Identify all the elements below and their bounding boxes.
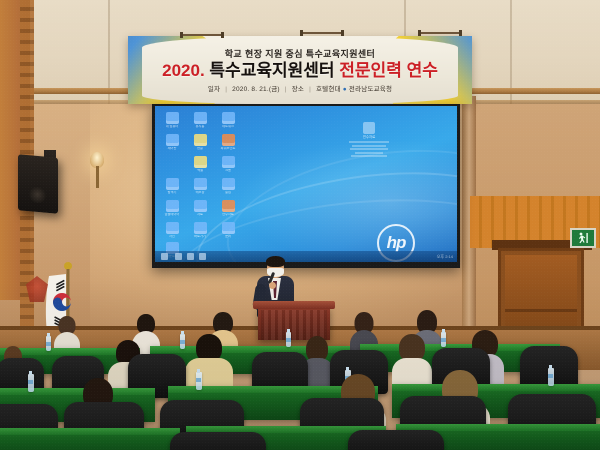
desktop-icon-label: 엑셀 <box>189 169 211 173</box>
desktop-icon-label: 파워포인트 <box>217 147 239 151</box>
banner-detail-line: 일자 | 2020. 8. 21.(금) | 장소 | 호텔현대 ● 전라남도교… <box>208 83 392 93</box>
desktop-icon-label: 메모장 <box>189 191 211 195</box>
desktop-icon-glyph <box>166 112 179 124</box>
conference-photo-scene: 학교 현장 지원 중심 특수교육지원센터 2020. 특수교육지원센터 전문인력… <box>0 0 600 450</box>
taskbar-app-icon[interactable] <box>187 253 194 260</box>
desktop-icon-glyph <box>166 200 179 212</box>
desktop-icon-glyph <box>194 156 207 168</box>
desktop-icon-glyph <box>222 200 235 212</box>
desktop-icon-label: 네트워크 <box>217 125 239 129</box>
desktop-icon-glyph <box>166 178 179 190</box>
banner-program-name: 전문인력 연수 <box>339 61 438 80</box>
desktop-icon-label: 한글 <box>189 147 211 151</box>
desktop-icon[interactable]: 바로가기 <box>189 222 211 239</box>
desktop-icon-label: 바로가기 <box>189 235 211 239</box>
desktop-icon[interactable]: 탐색기 <box>161 178 183 195</box>
projection-screen-frame: 내 컴퓨터 휴지통 네트워크 제어판 한글 파워포인트 엑셀 크롬 탐색기 메모… <box>152 104 460 268</box>
banner-subtitle-top: 학교 현장 지원 중심 특수교육지원센터 <box>225 47 375 60</box>
desktop-icon-glyph <box>222 112 235 124</box>
desktop-icon[interactable]: 엑셀 <box>189 156 211 173</box>
desktop-icon-label: 사진 <box>161 235 183 239</box>
wall-seam <box>510 0 512 112</box>
desktop-icon[interactable]: 휴지통 <box>189 112 211 129</box>
desktop-icon[interactable]: 네트워크 <box>217 112 239 129</box>
desktop-icon[interactable]: 곰플레이어 <box>161 200 183 217</box>
presenter-hand <box>269 282 276 289</box>
desktop-icon[interactable]: 연수자료 <box>217 200 239 217</box>
desktop-icon-glyph <box>166 222 179 234</box>
banner-org: 전라남도교육청 <box>349 86 392 93</box>
desktop-icon[interactable]: 크롬 <box>217 156 239 173</box>
water-bottle <box>196 372 202 390</box>
emergency-exit-icon <box>570 228 596 248</box>
taskbar-clock[interactable]: 오후 2:14 <box>437 254 453 260</box>
chair <box>348 430 444 450</box>
desktop-icon-glyph <box>194 222 207 234</box>
desktop-icon[interactable]: 제어판 <box>161 134 183 151</box>
taskbar-app-icon[interactable] <box>199 253 206 260</box>
sep-icon: | <box>309 86 311 93</box>
wallpaper-swoosh <box>216 129 457 262</box>
sep-icon: | <box>285 86 287 93</box>
chair <box>170 432 266 450</box>
desktop-icon-label: 탐색기 <box>161 191 183 195</box>
desktop-icon-glyph <box>194 200 207 212</box>
note-label: 연수자료 <box>341 134 397 139</box>
projection-screen: 내 컴퓨터 휴지통 네트워크 제어판 한글 파워포인트 엑셀 크롬 탐색기 메모… <box>155 106 457 262</box>
desktop-icon-glyph <box>194 134 207 146</box>
desktop-icon-glyph <box>222 134 235 146</box>
attendee <box>392 334 432 386</box>
presenter-hair <box>266 256 285 267</box>
desktop-icon-label: 곰플레이어 <box>161 213 183 217</box>
water-bottle <box>286 332 291 347</box>
sconce-stem <box>96 166 99 188</box>
desktop-icon-label: 휴지통 <box>189 125 211 129</box>
desktop-icon-glyph <box>166 134 179 146</box>
desktop-icon-label: 자료 <box>189 213 211 217</box>
desktop-icon[interactable]: 자료 <box>189 200 211 217</box>
desktop-icon-label: 제어판 <box>161 147 183 151</box>
desktop-icon-label: 크롬 <box>217 169 239 173</box>
banner-hook-left <box>180 32 224 38</box>
desktop-icon-glyph <box>194 178 207 190</box>
desktop-icon-glyph <box>222 156 235 168</box>
taskbar-app-icon[interactable] <box>175 253 182 260</box>
desktop-icon-glyph <box>222 222 235 234</box>
desktop-icon-label: 내 컴퓨터 <box>161 125 183 129</box>
org-logo-icon: ● <box>343 86 347 93</box>
desktop-icon-glyph <box>194 112 207 124</box>
water-bottle <box>548 368 554 386</box>
desktop-icon[interactable]: 문서 <box>217 222 239 239</box>
audience-area <box>0 300 600 450</box>
banner-year: 2020. <box>162 61 205 80</box>
desktop-icon-label: 알집 <box>217 191 239 195</box>
desktop-text-note[interactable]: 연수자료 <box>341 122 397 159</box>
taskbar-start-icon[interactable] <box>161 253 168 260</box>
desktop-icon[interactable]: 사진 <box>161 222 183 239</box>
banner-hook-mid <box>300 30 344 36</box>
water-bottle <box>46 336 51 351</box>
banner-center-name: 특수교육지원센터 <box>209 61 334 80</box>
note-lines <box>341 141 397 157</box>
desktop-icon[interactable]: 파워포인트 <box>217 134 239 151</box>
banner-main-title: 2020. 특수교육지원센터 전문인력 연수 <box>162 62 438 80</box>
note-icon <box>363 122 375 134</box>
windows-taskbar[interactable]: 오후 2:14 <box>155 251 457 262</box>
banner-hook-right <box>418 30 462 36</box>
desktop-icon[interactable]: 메모장 <box>189 178 211 195</box>
desktop-icon-label: 연수자료 <box>217 213 239 217</box>
desktop-icon[interactable]: 내 컴퓨터 <box>161 112 183 129</box>
wall-seam <box>108 0 110 112</box>
water-bottle <box>441 332 446 347</box>
conference-table <box>0 428 180 450</box>
speaker-cone-icon <box>29 185 46 203</box>
banner-place-label: 장소 <box>292 86 304 93</box>
banner-date-label: 일자 <box>208 86 220 93</box>
water-bottle <box>28 374 34 392</box>
loudspeaker <box>18 154 58 213</box>
banner-date-value: 2020. 8. 21.(금) <box>232 86 280 93</box>
desktop-icon[interactable]: 알집 <box>217 178 239 195</box>
banner-place-value: 호텔현대 <box>316 86 341 93</box>
attendee <box>185 334 233 388</box>
sep-icon: | <box>225 86 227 93</box>
desktop-icon-label: 문서 <box>217 235 239 239</box>
desktop-icon-glyph <box>222 178 235 190</box>
desktop-icon[interactable]: 한글 <box>189 134 211 151</box>
attendee <box>54 316 80 350</box>
event-banner: 학교 현장 지원 중심 특수교육지원센터 2020. 특수교육지원센터 전문인력… <box>128 36 472 104</box>
